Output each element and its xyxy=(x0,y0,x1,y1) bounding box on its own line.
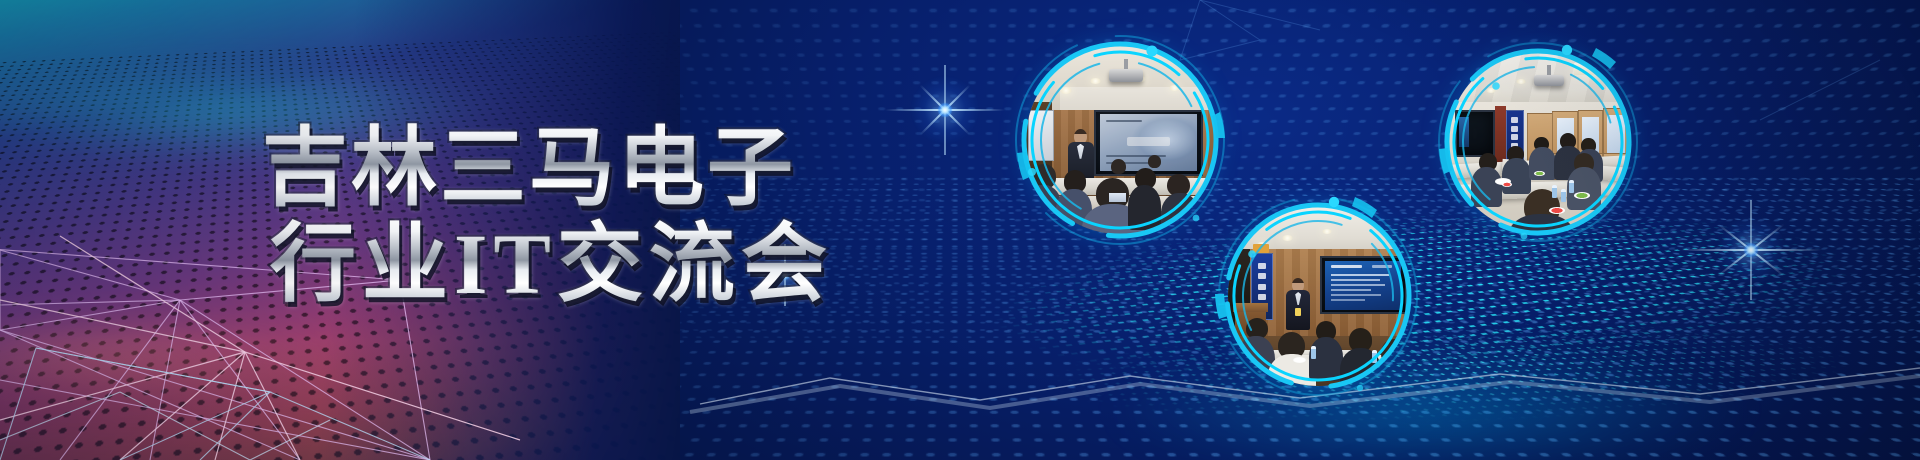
tech-ring-3 xyxy=(1204,182,1432,410)
event-banner: 吉林三马电子 吉林三马电子 行业IT交流会 行业IT交流会 xyxy=(0,0,1920,460)
headline-line-2-stack: 行业IT交流会 行业IT交流会 xyxy=(262,216,833,312)
headline-line-1: 吉林三马电子 xyxy=(262,120,833,216)
photo-medallion-3[interactable] xyxy=(1204,182,1432,410)
headline-line-2: 行业IT交流会 xyxy=(270,216,833,312)
headline-block: 吉林三马电子 吉林三马电子 行业IT交流会 行业IT交流会 xyxy=(262,120,833,312)
headline-line-1-stack: 吉林三马电子 吉林三马电子 xyxy=(262,120,833,216)
tech-ring-2 xyxy=(1424,28,1652,256)
photo-medallion-2[interactable] xyxy=(1424,28,1652,256)
